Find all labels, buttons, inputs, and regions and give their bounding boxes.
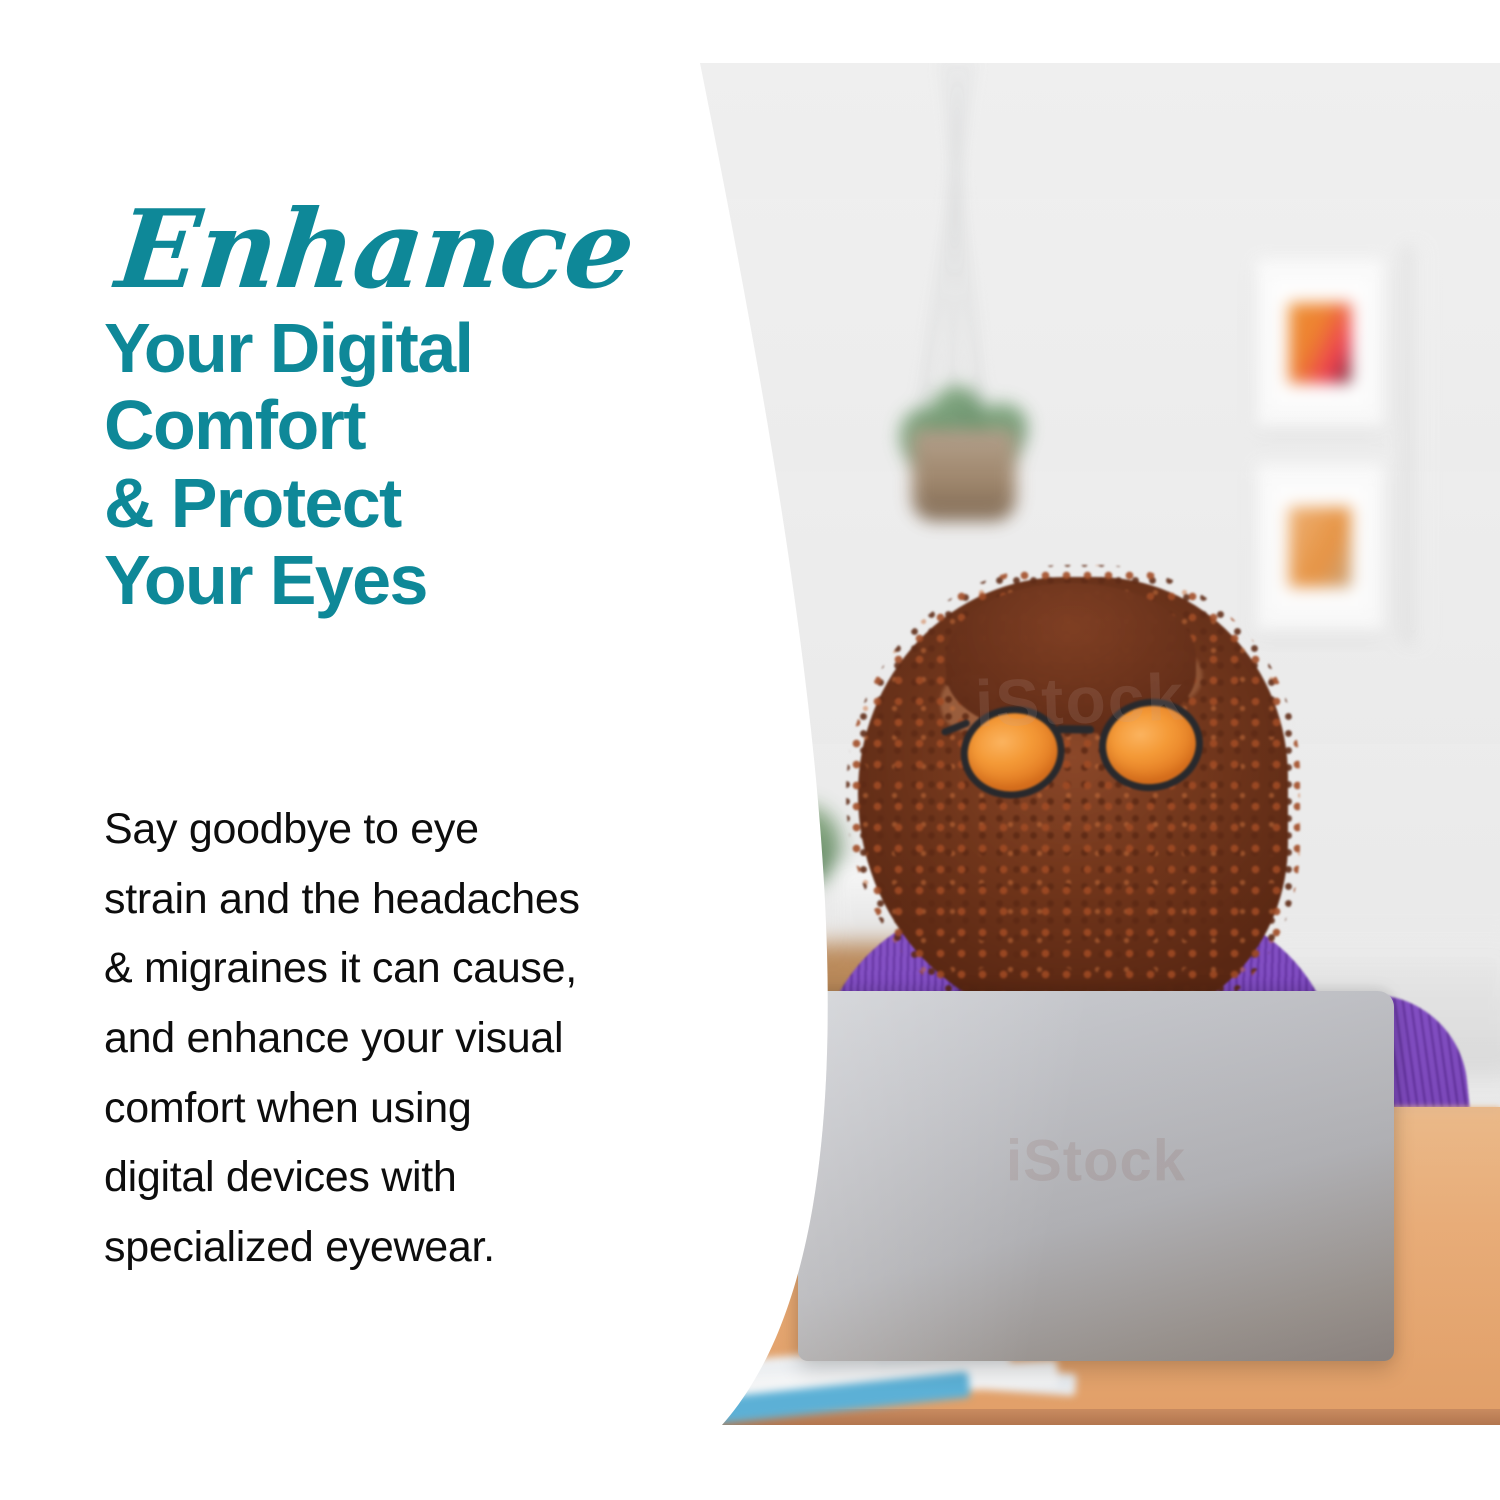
body-line: strain and the headaches (104, 865, 744, 935)
promo-banner: Enhance Your Digital Comfort & Protect Y… (0, 0, 1500, 1500)
photo-watermark: iStock (798, 1128, 1394, 1195)
body-paragraph: Say goodbye to eye strain and the headac… (104, 795, 744, 1283)
headline-line-3: & Protect (104, 465, 704, 542)
headline-block: Enhance Your Digital Comfort & Protect Y… (104, 196, 704, 619)
headline-line-2: Comfort (104, 387, 704, 464)
laptop: iStock (798, 991, 1394, 1361)
body-line: and enhance your visual (104, 1004, 744, 1074)
body-line: & migraines it can cause, (104, 934, 744, 1004)
glasses-bridge (1056, 725, 1094, 734)
body-line: comfort when using (104, 1074, 744, 1144)
headline-line-4: Your Eyes (104, 542, 704, 619)
copy-column: Enhance Your Digital Comfort & Protect Y… (0, 0, 700, 1500)
glasses-lens-left (955, 700, 1071, 806)
body-line: specialized eyewear. (104, 1213, 744, 1283)
body-line: Say goodbye to eye (104, 795, 744, 865)
body-line: digital devices with (104, 1143, 744, 1213)
curly-hair (858, 577, 1288, 1027)
photo-canvas: iStock iStock (660, 63, 1500, 1425)
headline-line-1: Your Digital (104, 310, 704, 387)
headline-script-word: Enhance (112, 196, 715, 304)
hero-photo: iStock iStock (660, 63, 1500, 1425)
